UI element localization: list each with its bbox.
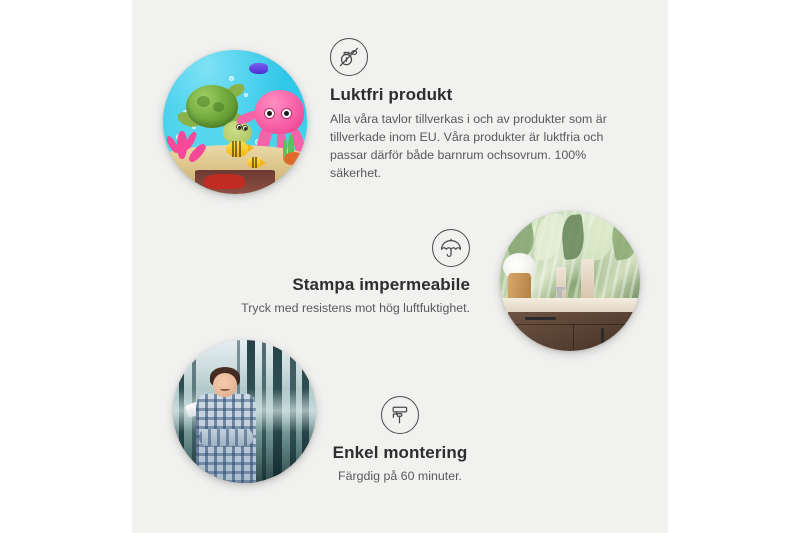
feature-body: Alla våra tavlor tillverkas i och av pro… [330, 111, 630, 183]
feature-title: Luktfri produkt [330, 85, 630, 105]
paint-roller-icon [381, 396, 419, 434]
feature-odourless: Luktfri produkt Alla våra tavlor tillver… [330, 38, 630, 183]
feature-waterproof: Stampa impermeabile Tryck med resistens … [180, 229, 470, 318]
feature-title: Stampa impermeabile [180, 275, 470, 295]
no-fragrance-spray-icon [330, 38, 368, 76]
feature-body: Tryck med resistens mot hög luftfuktighe… [180, 300, 470, 318]
umbrella-icon [432, 229, 470, 267]
product-feature-infographic: Luktfri produkt Alla våra tavlor tillver… [0, 0, 800, 533]
underwater-kids-mural-photo [163, 50, 307, 194]
feature-title: Enkel montering [280, 443, 520, 463]
feature-body: Färgdig på 60 minuter. [280, 468, 520, 486]
green-leaf-bathroom-photo [500, 211, 640, 351]
feature-easy-install: Enkel montering Färgdig på 60 minuter. [280, 396, 520, 486]
